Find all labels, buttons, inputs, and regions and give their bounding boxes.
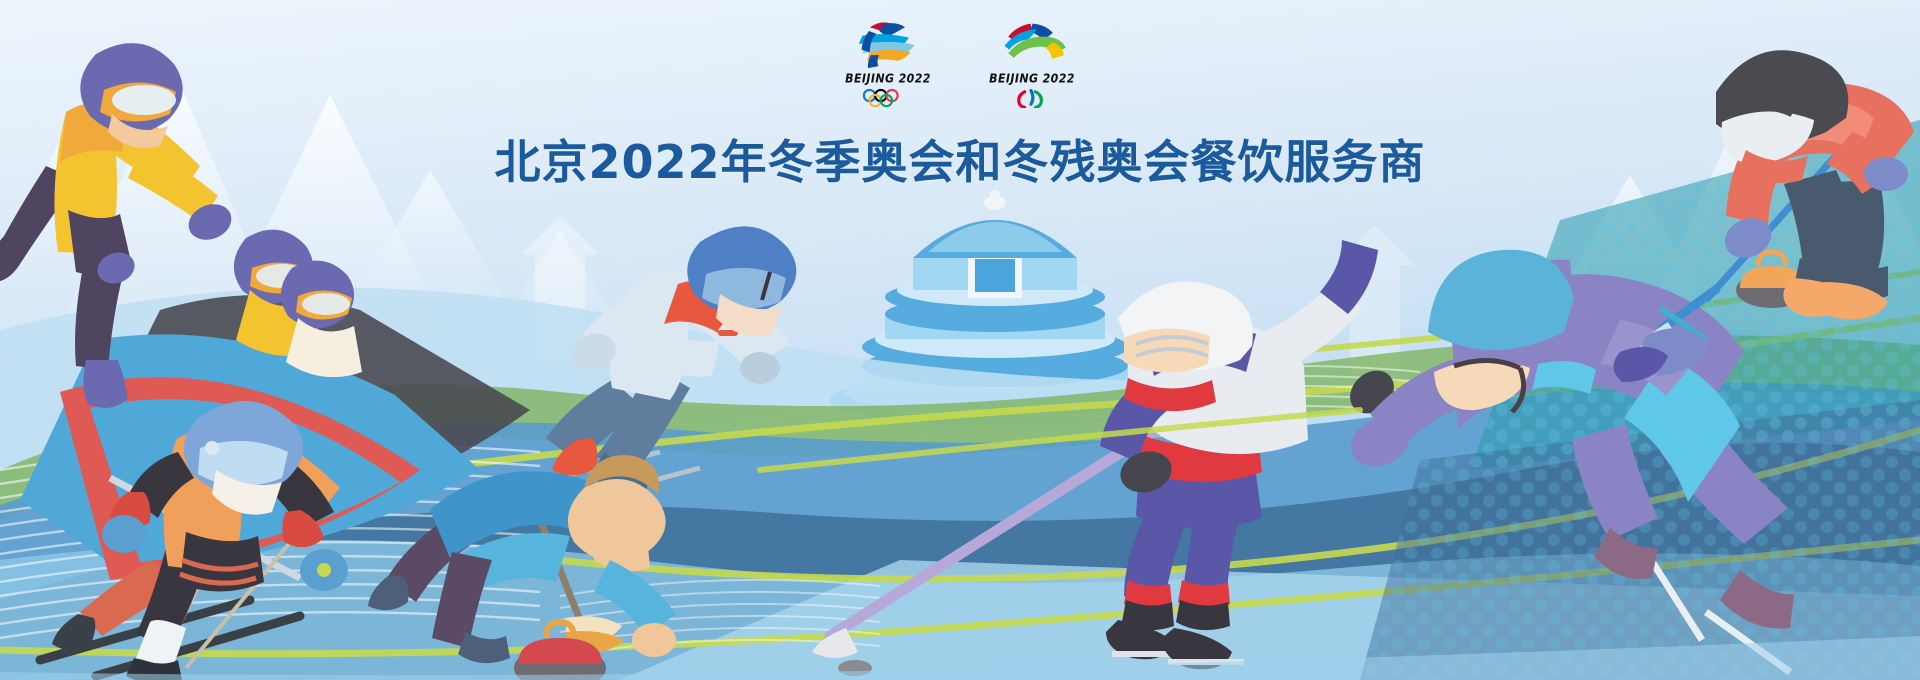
foreground-accent-stripes [0, 0, 1920, 680]
beijing-2022-hero-banner: BEIJING 2022 [0, 0, 1920, 680]
